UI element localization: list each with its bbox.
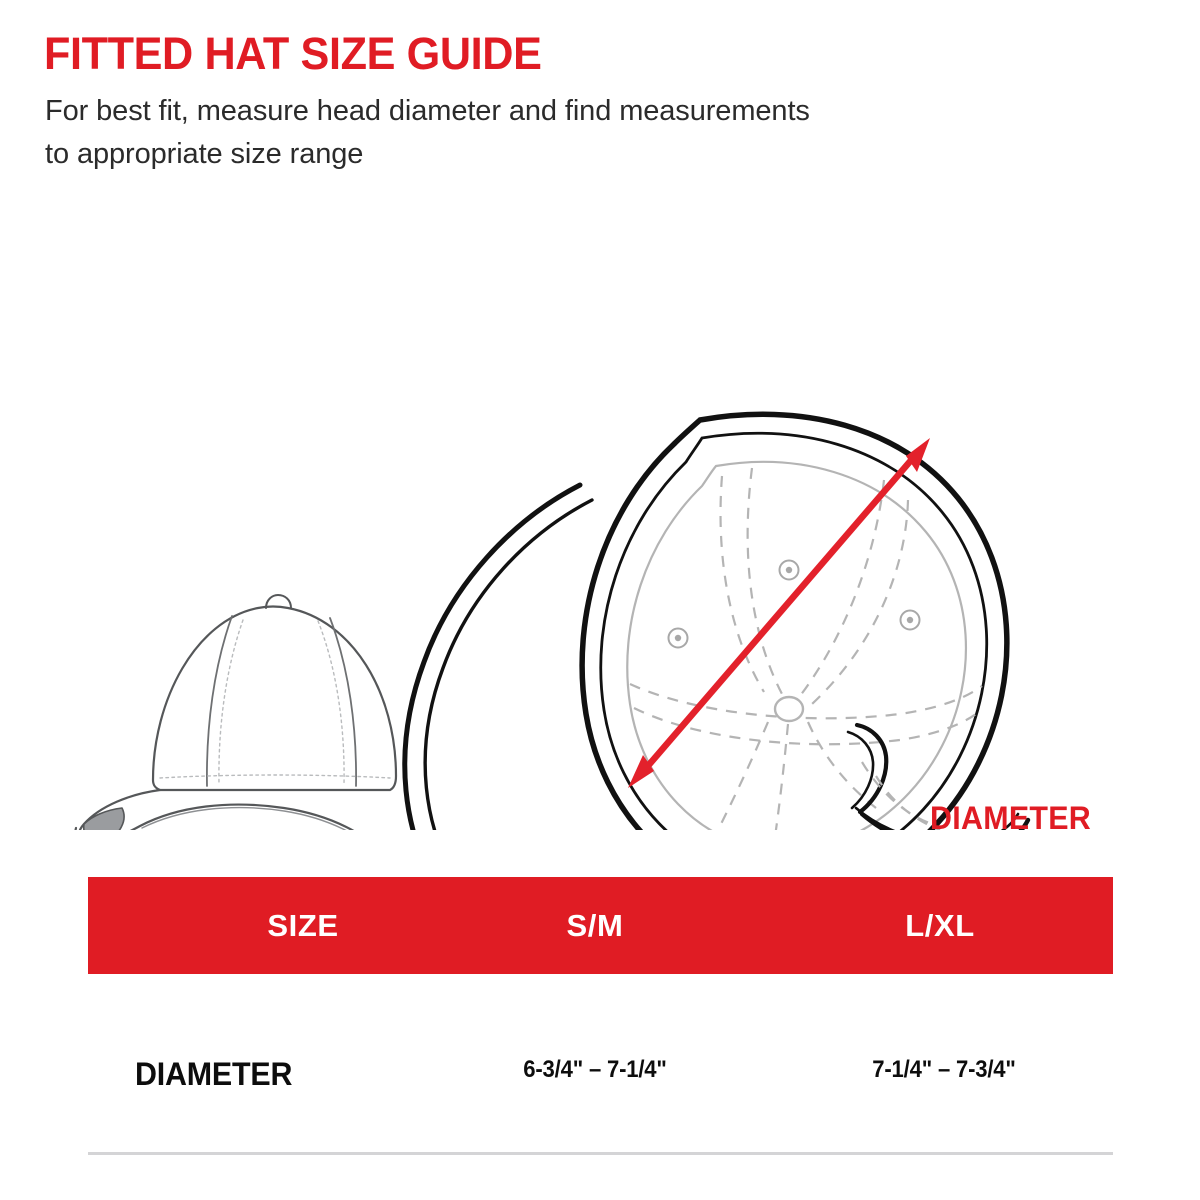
page-title: FITTED HAT SIZE GUIDE (44, 30, 542, 78)
column-header-size: SIZE (158, 908, 448, 944)
size-table: SIZE S/M L/XL DIAMETER 6-3/4" – 7-1/4" 7… (88, 877, 1113, 1150)
row-label-diameter: DIAMETER (135, 1056, 449, 1093)
eyelet-icon (901, 611, 920, 630)
page-subtitle: For best fit, measure head diameter and … (45, 90, 835, 176)
crown-button-hole (775, 697, 803, 721)
diameter-annotation-label: DIAMETER (930, 800, 1091, 837)
hat-illustration: Milwaukee (0, 180, 1200, 830)
eyelet-icon (780, 561, 799, 580)
side-view-cap (75, 595, 396, 830)
cell-diameter-sm: 6-3/4" – 7-1/4" (462, 1056, 729, 1084)
interior-view-cap (405, 414, 1028, 830)
cell-diameter-lxl: 7-1/4" – 7-3/4" (811, 1056, 1078, 1084)
eyelet-icon (669, 629, 688, 648)
table-bottom-divider (88, 1152, 1113, 1155)
size-table-header-row: SIZE S/M L/XL (88, 877, 1113, 974)
column-header-lxl: L/XL (795, 908, 1085, 944)
hat-illustration-svg: Milwaukee (0, 180, 1200, 830)
size-guide-page: FITTED HAT SIZE GUIDE For best fit, meas… (0, 0, 1200, 1200)
size-table-body: DIAMETER 6-3/4" – 7-1/4" 7-1/4" – 7-3/4" (88, 974, 1113, 1150)
column-header-sm: S/M (450, 908, 740, 944)
